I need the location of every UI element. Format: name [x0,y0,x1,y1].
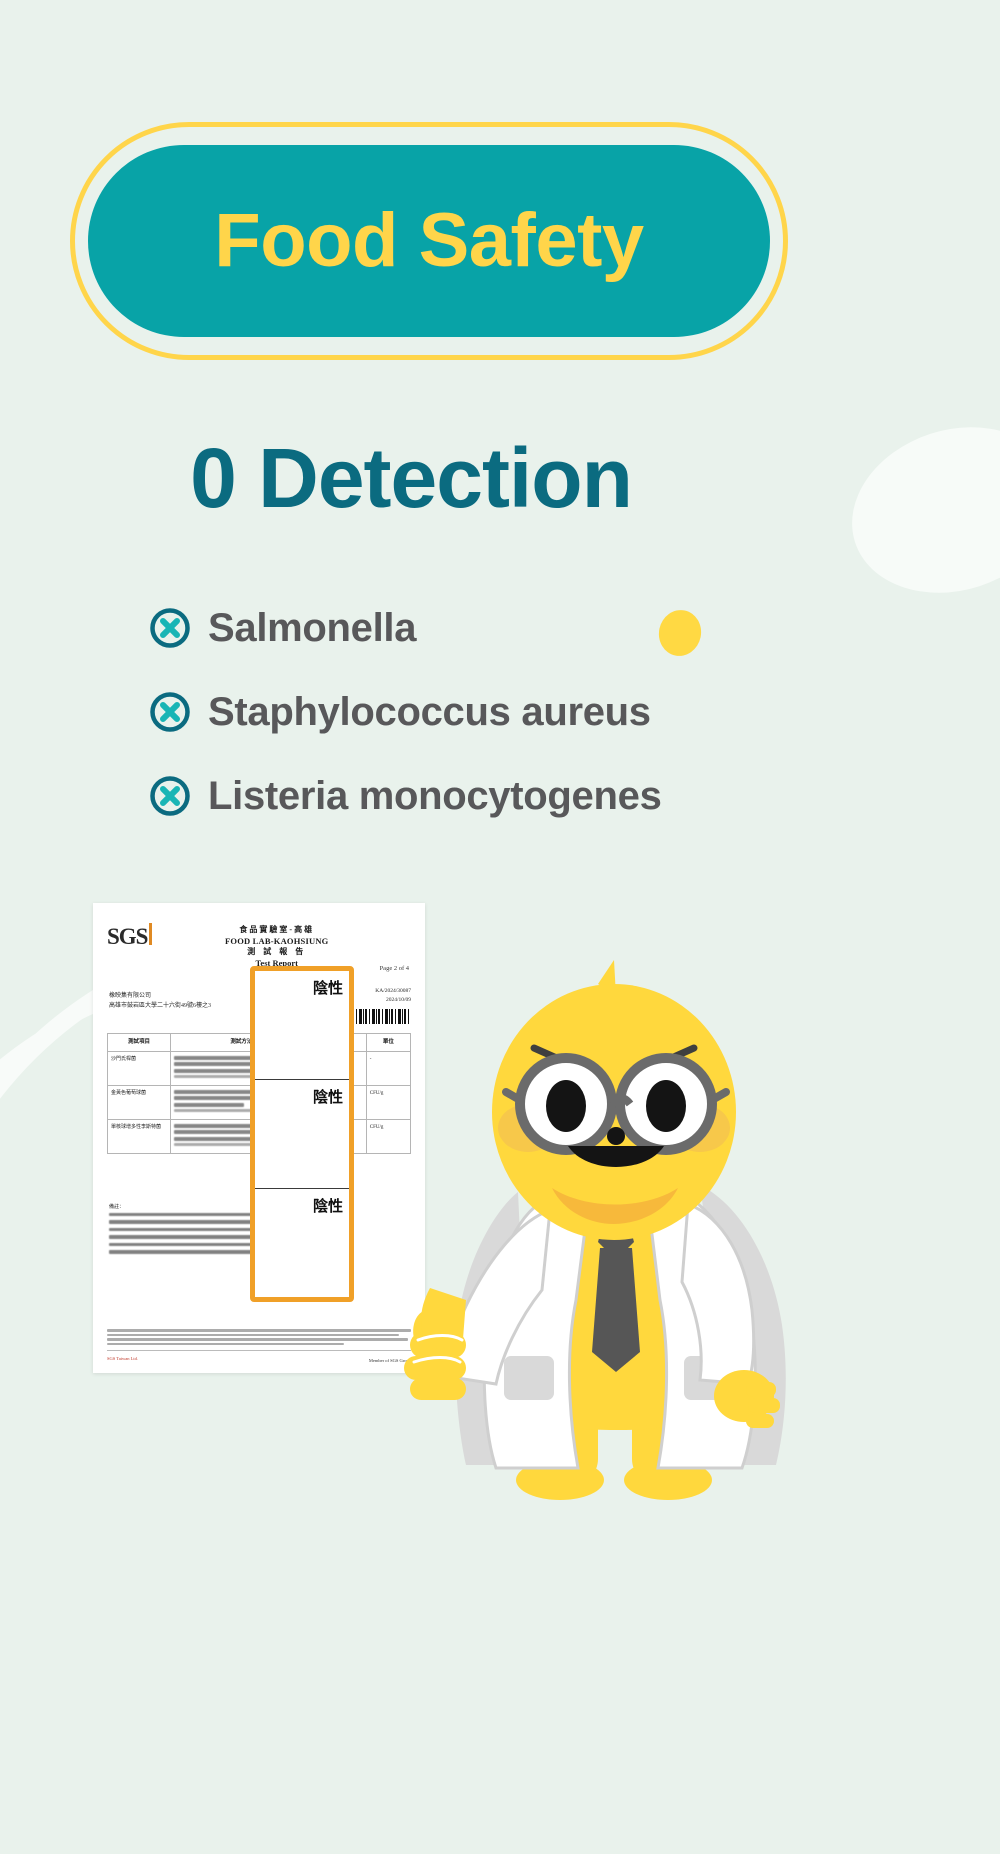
eye-right [646,1080,686,1132]
pathogen-list: Salmonella Staphylococcus aureus Listeri… [148,600,868,852]
table-cell-item: 沙門氏桿菌 [108,1051,171,1085]
circle-x-icon [148,606,192,650]
coat-pocket-left [504,1356,554,1400]
list-item: Listeria monocytogenes [148,768,868,824]
sgs-logo: SGS [107,925,152,948]
negative-result-label: 陰性 [313,1086,343,1107]
list-item-label: Staphylococcus aureus [208,690,651,735]
negative-result-cell: 陰性 [255,1079,349,1188]
eye-left [546,1080,586,1132]
list-item-label: Listeria monocytogenes [208,774,662,819]
table-cell-item: 單核球增多性李斯特菌 [108,1119,171,1153]
table-cell-item: 金黃色葡萄球菌 [108,1085,171,1119]
badge-label: Food Safety [214,203,643,279]
negative-result-label: 陰性 [313,977,343,998]
report-title-en: FOOD LAB-KAOHSIUNG [142,936,411,947]
report-address-line: 橡映集有限公司 [109,991,211,1001]
report-footer: SGS Taiwan Ltd. Member of SGS Group [107,1329,411,1363]
footer-bottom: SGS Taiwan Ltd. Member of SGS Group [107,1355,411,1363]
footer-divider [107,1350,411,1351]
footer-company: SGS Taiwan Ltd. [107,1355,138,1363]
report-address: 橡映集有限公司 高雄市鼓岩區大學二十六街49號6樓之3 [109,991,211,1011]
nose [607,1127,625,1145]
necktie-blade [592,1248,640,1372]
thumbs-up-hand [404,1288,466,1400]
page-title: 0 Detection [0,432,822,524]
badge-fill: Food Safety [88,145,770,337]
negative-results-highlight: 陰性 陰性 陰性 [250,966,354,1302]
report-header: SGS 食品實驗室-高雄 FOOD LAB-KAOHSIUNG 測 試 報 告 … [93,903,425,970]
table-header-cell: 測試項目 [108,1034,171,1052]
negative-result-cell: 陰性 [255,1188,349,1297]
report-address-line: 高雄市鼓岩區大學二十六街49號6樓之3 [109,1001,211,1011]
report-titles: 食品實驗室-高雄 FOOD LAB-KAOHSIUNG 測 試 報 告 Test… [142,925,411,970]
negative-result-label: 陰性 [313,1195,343,1216]
decorative-blob-right [830,401,1000,618]
list-item-label: Salmonella [208,606,416,651]
food-safety-badge: Food Safety [70,122,788,360]
circle-x-icon [148,690,192,734]
circle-x-icon [148,774,192,818]
scientist-mascot [400,960,830,1500]
report-title-cn: 食品實驗室-高雄 [142,925,411,936]
report-subtitle-cn: 測 試 報 告 [142,947,411,958]
list-item: Salmonella [148,600,868,656]
poster-root: Food Safety 0 Detection Salmonella Staph… [0,0,1000,1854]
list-item: Staphylococcus aureus [148,684,868,740]
negative-result-cell: 陰性 [255,971,349,1079]
